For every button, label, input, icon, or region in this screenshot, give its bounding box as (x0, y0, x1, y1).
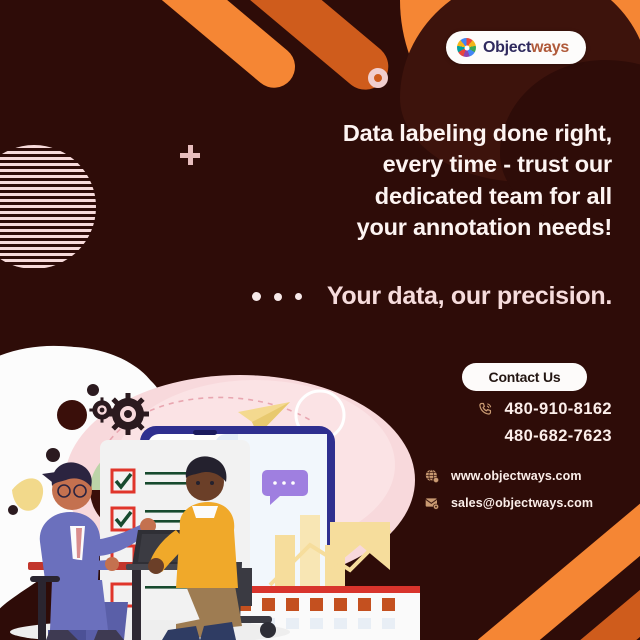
objectways-logo[interactable]: Objectways (446, 31, 586, 64)
plus-mark-icon (180, 145, 200, 165)
tagline-row: Your data, our precision. (150, 282, 612, 311)
headline: Data labeling done right, every time - t… (300, 118, 612, 243)
email-row[interactable]: sales@objectways.com (424, 495, 614, 511)
phone-number-secondary: 480-682-7623 (504, 427, 612, 446)
tagline-dot-1 (252, 292, 261, 301)
headline-line-3: dedicated team for all (300, 181, 612, 212)
ring-mark-icon (368, 68, 388, 88)
tagline-dots (252, 292, 302, 301)
website-row[interactable]: www.objectways.com (424, 468, 614, 484)
contact-us-button[interactable]: Contact Us (462, 363, 587, 391)
logo-word-object: Object (483, 39, 531, 56)
headline-line-2: every time - trust our (300, 149, 612, 180)
website-url: www.objectways.com (451, 469, 582, 483)
tagline-text: Your data, our precision. (327, 282, 612, 311)
two-people-at-desk-illustration (0, 330, 420, 640)
striped-circle-decor (0, 145, 96, 269)
phone-list: 480-910-8162 480-682-7623 (430, 400, 612, 454)
promotional-poster: Objectways Data labeling done right, eve… (0, 0, 640, 640)
phone-row[interactable]: 480-682-7623 (430, 427, 612, 446)
globe-icon (424, 468, 440, 484)
top-left-diagonal-bar-light (54, 0, 303, 96)
headline-line-4: your annotation needs! (300, 212, 612, 243)
tagline-dot-2 (274, 293, 282, 301)
objectways-circle-logo-icon (457, 38, 476, 57)
contact-links: www.objectways.com sales@objectways.com (424, 468, 614, 522)
logo-word-ways: ways (531, 39, 569, 56)
tagline-dot-3 (295, 293, 302, 300)
phone-row[interactable]: 480-910-8162 (430, 400, 612, 419)
phone-icon (477, 401, 494, 418)
logo-wordmark: Objectways (483, 40, 569, 56)
phone-number-primary: 480-910-8162 (504, 400, 612, 419)
envelope-icon (424, 495, 440, 511)
contact-us-button-label: Contact Us (489, 369, 561, 385)
headline-line-1: Data labeling done right, (300, 118, 612, 149)
email-address: sales@objectways.com (451, 496, 593, 510)
